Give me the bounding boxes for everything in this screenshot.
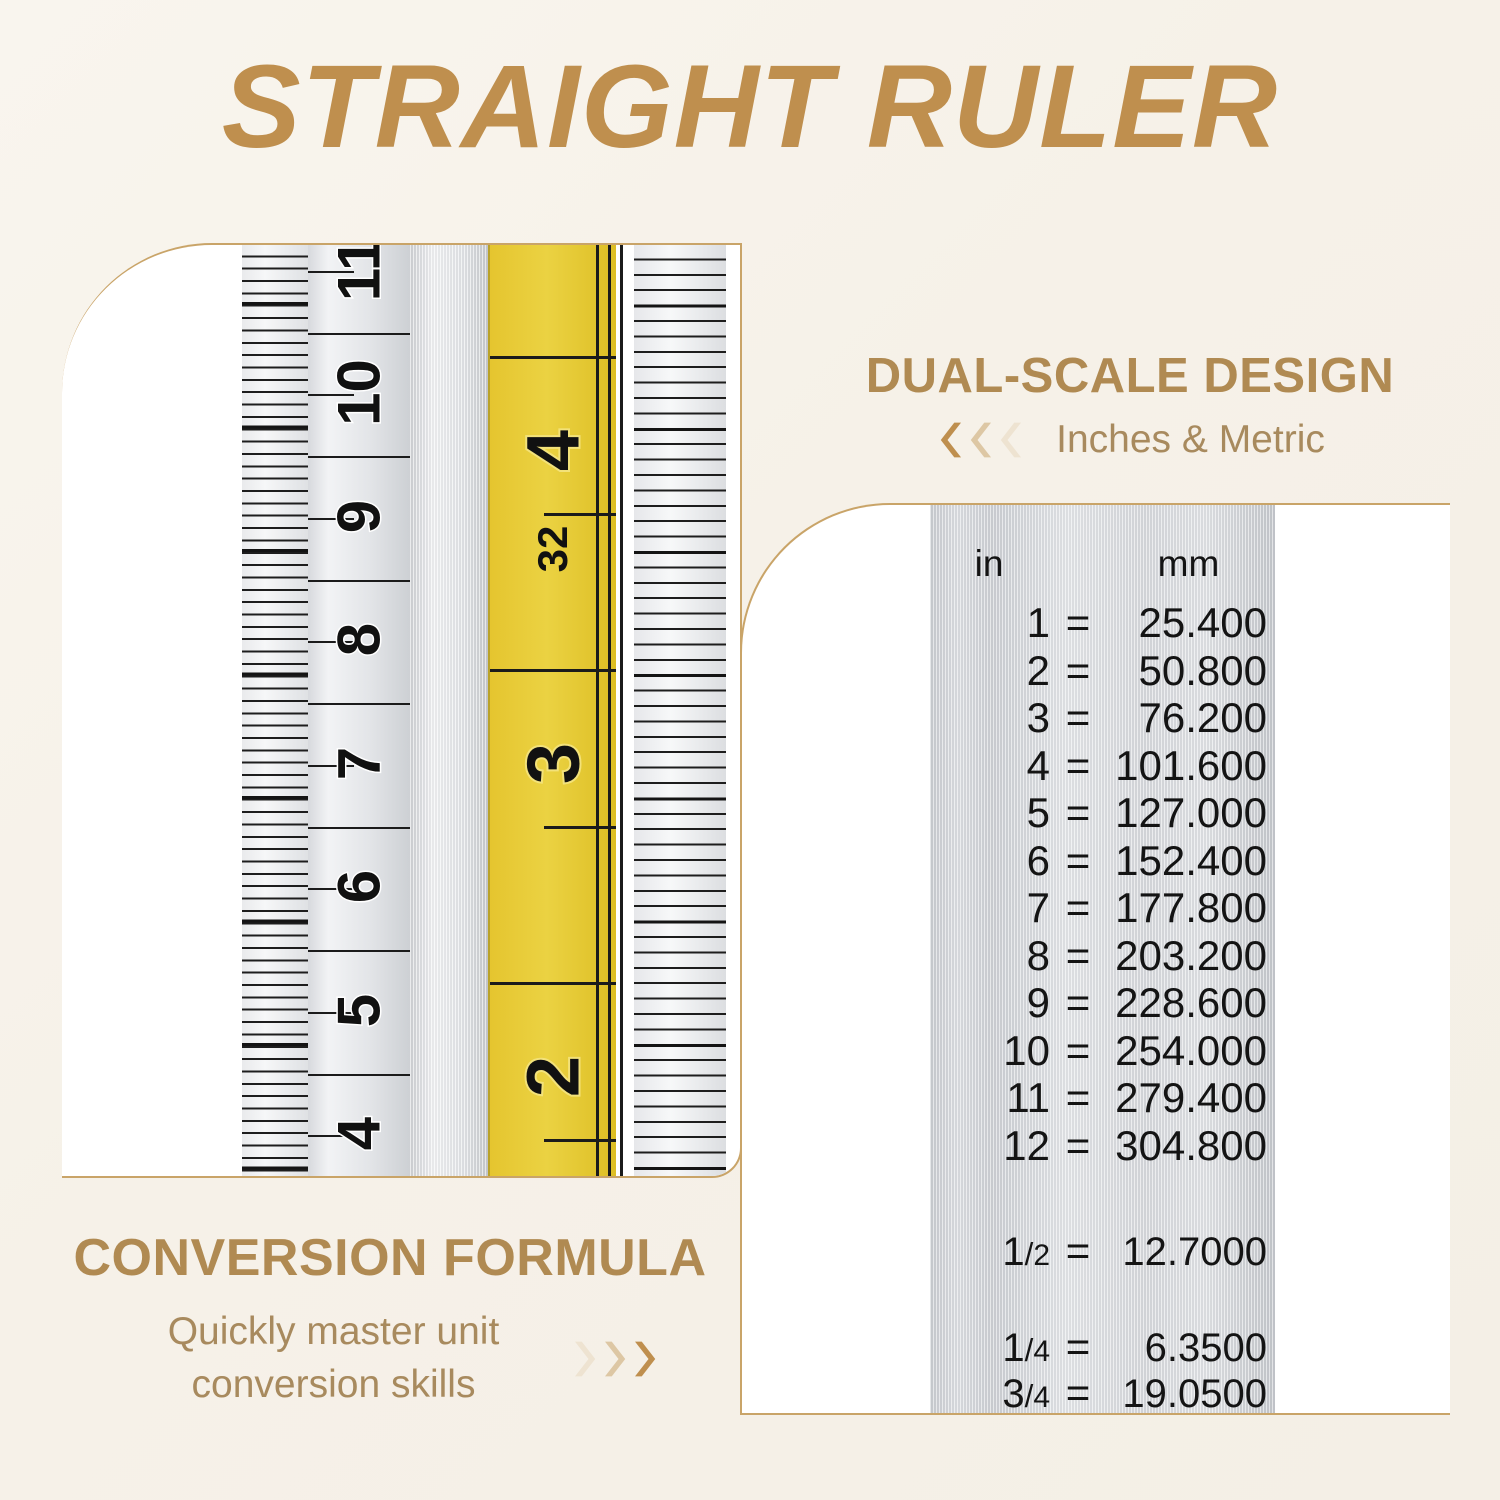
metric-number-label: 11 (325, 243, 394, 320)
cell-equals: = (1050, 650, 1106, 692)
conversion-row: 11=279.400 (930, 1077, 1275, 1119)
cell-equals: = (1050, 792, 1106, 834)
cell-millimeters: 152.400 (1106, 840, 1275, 882)
conversion-row: 3/4=19.0500 (930, 1372, 1275, 1414)
feature-conversion-formula: CONVERSION FORMULA Quickly master unit c… (40, 1228, 740, 1411)
cell-millimeters: 50.800 (1106, 650, 1275, 692)
cell-inches: 6 (930, 840, 1050, 882)
inch-number-label: 3 (511, 701, 596, 827)
inch-fine-ticks (634, 243, 726, 1178)
conversion-row: 4=101.600 (930, 745, 1275, 787)
chevron-right-icon (605, 1338, 632, 1380)
cell-equals: = (1050, 887, 1106, 929)
column-header-millimeters: mm (1102, 543, 1275, 585)
conversion-row: 1/2=12.7000 (930, 1230, 1275, 1272)
conversion-row: 7=177.800 (930, 887, 1275, 929)
cell-millimeters: 76.200 (1106, 697, 1275, 739)
cell-inches: 12 (930, 1125, 1050, 1167)
brushed-metal-gap (410, 243, 488, 1178)
infographic-stage: STRAIGHT RULER 1110987654 43232 (0, 0, 1500, 1500)
feature-dual-scale-subtitle: Inches & Metric (1056, 418, 1325, 462)
metric-cm-line (308, 1074, 410, 1076)
metric-number-label: 6 (325, 836, 394, 938)
inch-number-label: 2 (511, 1014, 596, 1140)
chevron-left-icon (935, 419, 962, 461)
feature-conversion-row: Quickly master unit conversion skills (40, 1306, 740, 1411)
inch-subdivision-label: 32 (529, 486, 577, 612)
metric-cm-line (308, 333, 410, 335)
conversion-row: 6=152.400 (930, 840, 1275, 882)
metric-cm-line (308, 456, 410, 458)
conversion-row: 1/4=6.3500 (930, 1326, 1275, 1368)
metric-cm-line (308, 703, 410, 705)
metric-cm-line (308, 950, 410, 952)
chevron-right-icon (635, 1338, 662, 1380)
cell-inches: 7 (930, 887, 1050, 929)
column-header-inches: in (930, 543, 1048, 585)
cell-millimeters: 127.000 (1106, 792, 1275, 834)
cell-inches: 1/2 (930, 1232, 1050, 1272)
metric-number-label: 4 (325, 1083, 394, 1178)
conversion-table: in mm 1=25.4002=50.8003=76.2004=101.6005… (930, 505, 1275, 1413)
metric-number-label: 5 (325, 959, 394, 1061)
conversion-row: 8=203.200 (930, 935, 1275, 977)
cell-millimeters: 228.600 (1106, 982, 1275, 1024)
cell-millimeters: 12.7000 (1106, 1232, 1275, 1272)
cell-inches: 1 (930, 602, 1050, 644)
feature-dual-scale-title: DUAL-SCALE DESIGN (800, 348, 1460, 404)
cell-millimeters: 6.3500 (1106, 1328, 1275, 1368)
chevron-left-group (935, 419, 1022, 461)
cell-equals: = (1050, 840, 1106, 882)
cell-millimeters: 304.800 (1106, 1125, 1275, 1167)
metric-fine-ticks (242, 243, 308, 1178)
cell-inches: 2 (930, 650, 1050, 692)
conversion-row: 12=304.800 (930, 1125, 1275, 1167)
cell-millimeters: 254.000 (1106, 1030, 1275, 1072)
cell-inches: 3 (930, 697, 1050, 739)
cell-equals: = (1050, 745, 1106, 787)
conversion-table-panel: in mm 1=25.4002=50.8003=76.2004=101.6005… (740, 503, 1450, 1415)
conversion-row: 1=25.400 (930, 602, 1275, 644)
feature-dual-scale: DUAL-SCALE DESIGN Inches & Metric (800, 348, 1460, 462)
cell-equals: = (1050, 1230, 1106, 1272)
chevron-left-icon (965, 419, 992, 461)
metric-number-band: 1110987654 (308, 243, 410, 1178)
cell-inches: 9 (930, 982, 1050, 1024)
feature-conversion-subtitle: Quickly master unit conversion skills (119, 1306, 549, 1411)
metric-cm-line (308, 580, 410, 582)
page-title: STRAIGHT RULER (0, 48, 1500, 166)
conversion-row: 2=50.800 (930, 650, 1275, 692)
chevron-right-group (575, 1338, 662, 1380)
cell-inches: 1/4 (930, 1328, 1050, 1368)
conversion-row: 10=254.000 (930, 1030, 1275, 1072)
cell-millimeters: 203.200 (1106, 935, 1275, 977)
ruler-artwork: 1110987654 43232 (242, 243, 662, 1178)
cell-millimeters: 101.600 (1106, 745, 1275, 787)
metric-number-label: 7 (325, 712, 394, 814)
column-header-spacer (1048, 543, 1102, 585)
cell-inches: 5 (930, 792, 1050, 834)
cell-inches: 10 (930, 1030, 1050, 1072)
cell-equals: = (1050, 697, 1106, 739)
conversion-row: 3=76.200 (930, 697, 1275, 739)
cell-equals: = (1050, 1030, 1106, 1072)
conversion-row: 5=127.000 (930, 792, 1275, 834)
feature-conversion-subtitle-line2: conversion skills (119, 1359, 549, 1412)
feature-conversion-subtitle-line1: Quickly master unit (119, 1306, 549, 1359)
cell-equals: = (1050, 1372, 1106, 1414)
cell-equals: = (1050, 935, 1106, 977)
chevron-left-icon (995, 419, 1022, 461)
cell-inches: 3/4 (930, 1374, 1050, 1414)
cell-millimeters: 25.400 (1106, 602, 1275, 644)
conversion-row: 9=228.600 (930, 982, 1275, 1024)
metric-cm-line (308, 827, 410, 829)
ruler-image-panel: 1110987654 43232 (62, 243, 742, 1178)
cell-equals: = (1050, 1125, 1106, 1167)
cell-millimeters: 177.800 (1106, 887, 1275, 929)
cell-inches: 11 (930, 1077, 1050, 1119)
table-header-row: in mm (930, 543, 1275, 585)
feature-conversion-title: CONVERSION FORMULA (40, 1228, 740, 1288)
cell-equals: = (1050, 1326, 1106, 1368)
cell-inches: 8 (930, 935, 1050, 977)
cell-millimeters: 19.0500 (1106, 1374, 1275, 1414)
metric-number-label: 10 (325, 342, 394, 444)
metal-plate-background: in mm 1=25.4002=50.8003=76.2004=101.6005… (930, 505, 1275, 1413)
cell-equals: = (1050, 982, 1106, 1024)
cell-equals: = (1050, 1077, 1106, 1119)
chevron-right-icon (575, 1338, 602, 1380)
metric-number-label: 9 (325, 465, 394, 567)
cell-equals: = (1050, 602, 1106, 644)
metric-number-label: 8 (325, 589, 394, 691)
inch-rail-lines (594, 243, 634, 1178)
feature-dual-scale-row: Inches & Metric (800, 418, 1460, 462)
cell-inches: 4 (930, 745, 1050, 787)
cell-millimeters: 279.400 (1106, 1077, 1275, 1119)
